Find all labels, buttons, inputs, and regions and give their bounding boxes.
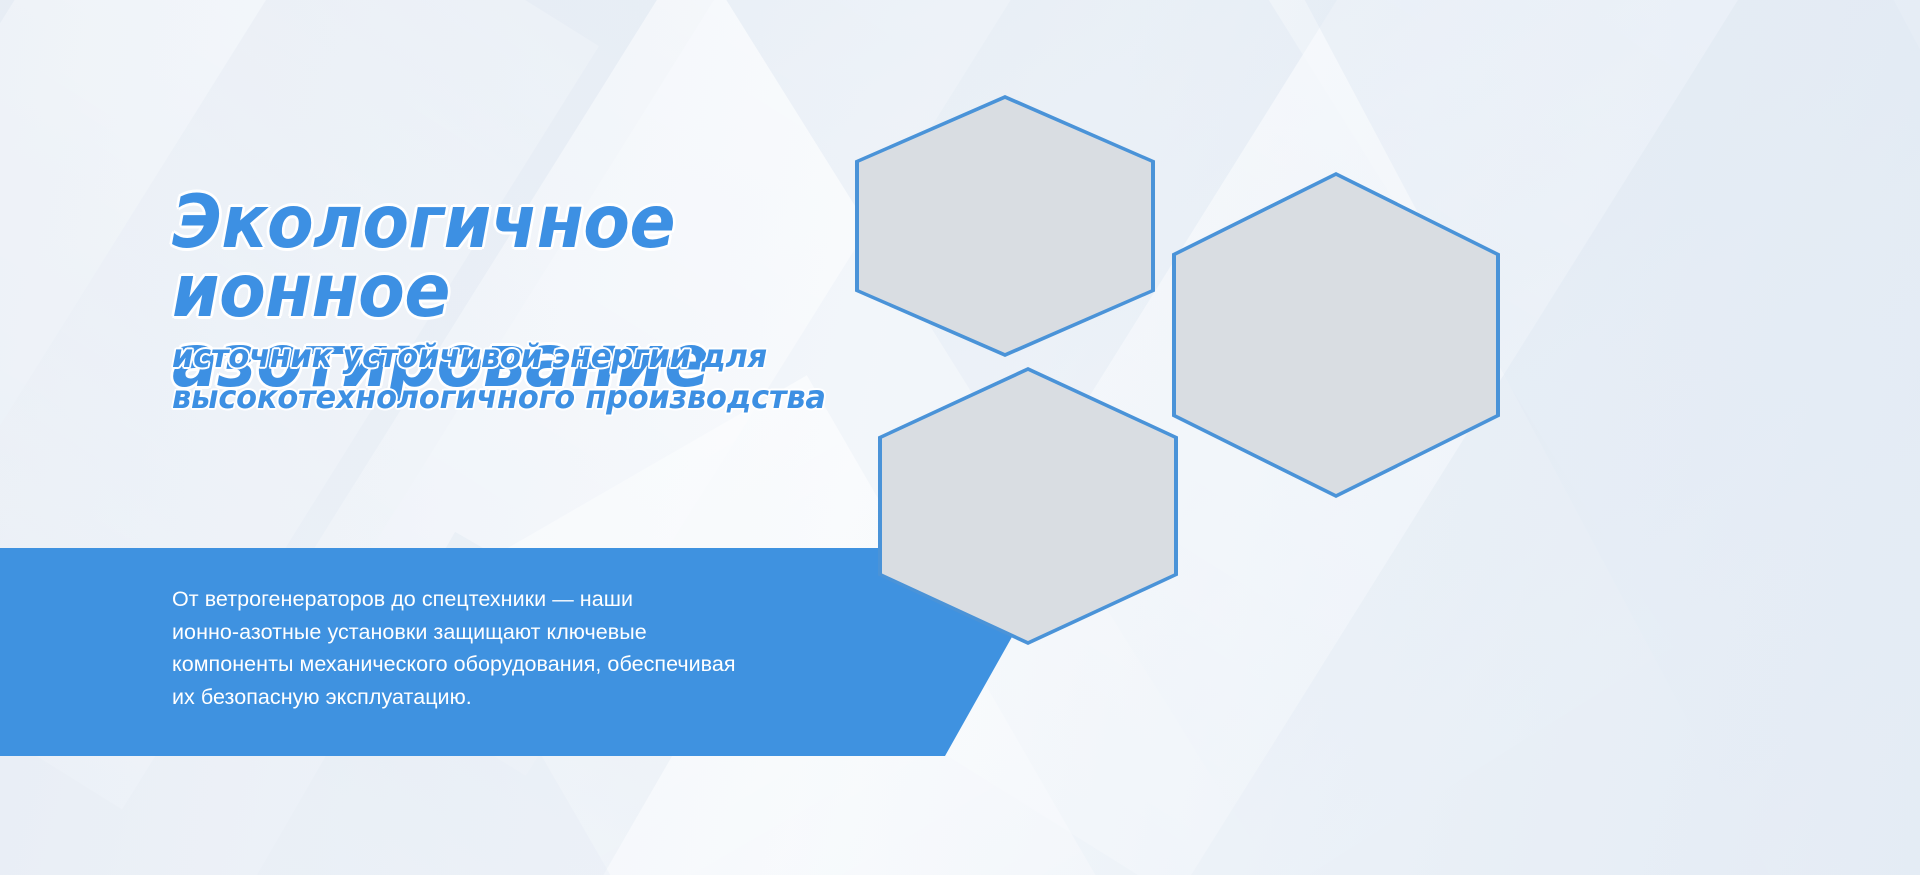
hexagon-photo-bottom xyxy=(878,367,1178,645)
callout-body-text: От ветрогенераторов до спецтехники — наш… xyxy=(172,583,792,714)
hexagon-inner-border xyxy=(1176,176,1496,494)
hexagon-photo-top xyxy=(855,95,1155,357)
hexagon-inner-border xyxy=(882,371,1174,641)
hero-banner: Экологичное ионное азотирование источник… xyxy=(0,0,1920,875)
hexagon-inner-border xyxy=(859,99,1151,353)
hexagon-photo-right xyxy=(1172,172,1500,498)
